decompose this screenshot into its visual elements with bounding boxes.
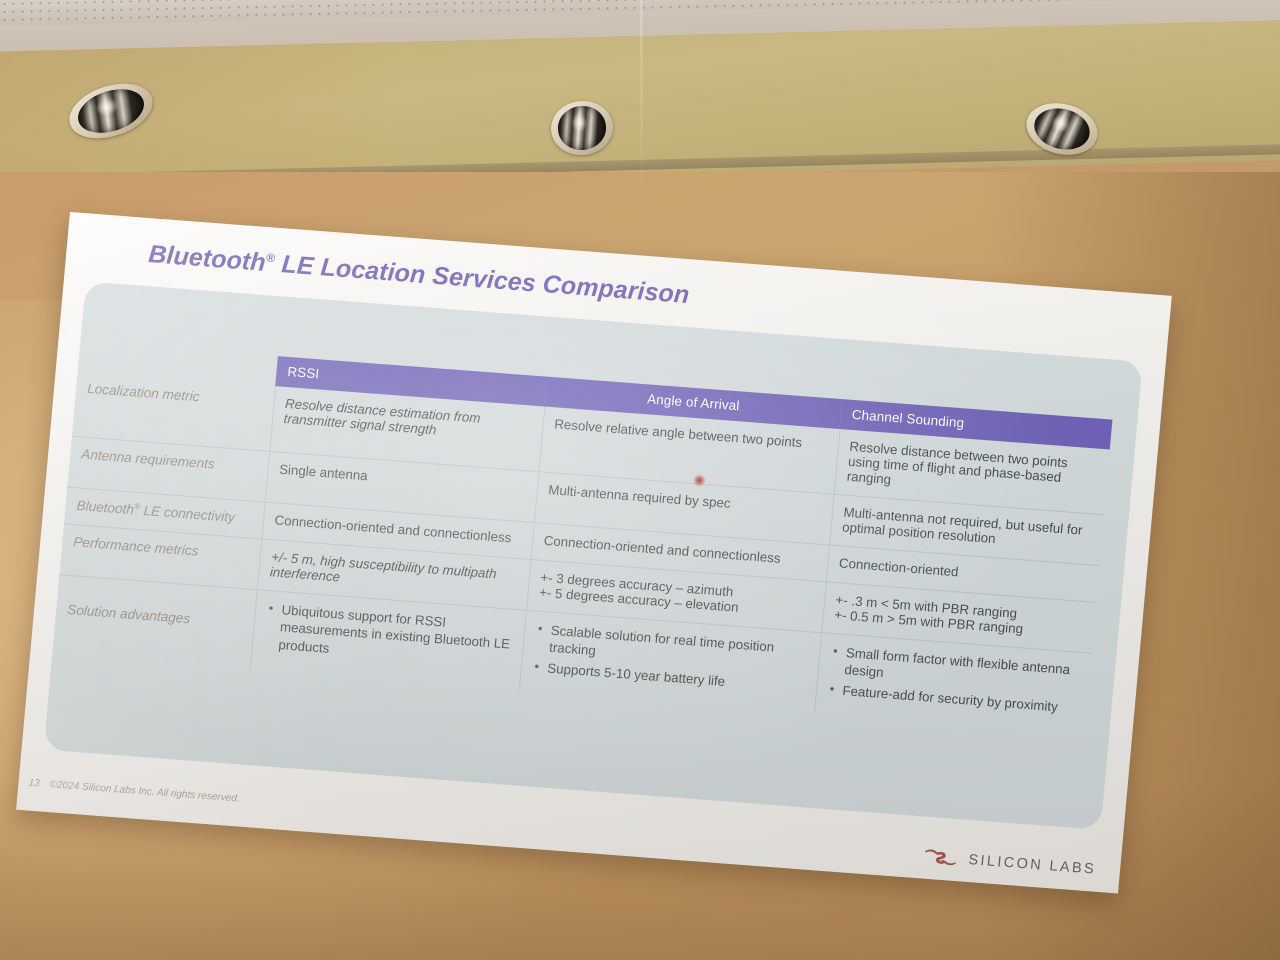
advantages-rssi-list: Ubiquitous support for RSSI measurements… [263, 600, 514, 672]
projected-slide: Bluetooth® LE Location Services Comparis… [16, 212, 1172, 893]
copyright-text: ©2024 Silicon Labs Inc. All rights reser… [49, 779, 240, 804]
page-number: 13 [28, 778, 40, 790]
list-item: Ubiquitous support for RSSI measurements… [278, 601, 514, 672]
row-label-brand: Bluetooth [76, 498, 135, 517]
page-title-brand: Bluetooth [147, 240, 267, 277]
silicon-labs-wordmark: SILICON LABS [968, 852, 1097, 878]
silicon-labs-mark-icon [921, 847, 960, 867]
advantages-cs-list: Small form factor with flexible antenna … [827, 643, 1080, 718]
wall-seam [640, 0, 643, 200]
row-label-solution-advantages: Solution advantages [52, 574, 257, 669]
silicon-labs-logo: SILICON LABS [921, 847, 1097, 877]
slide-footer: 13©2024 Silicon Labs Inc. All rights res… [28, 778, 240, 805]
downlight-icon-2 [548, 98, 615, 158]
row-label-tail: LE connectivity [139, 503, 235, 525]
advantages-aoa-list: Scalable solution for real time position… [532, 620, 809, 697]
